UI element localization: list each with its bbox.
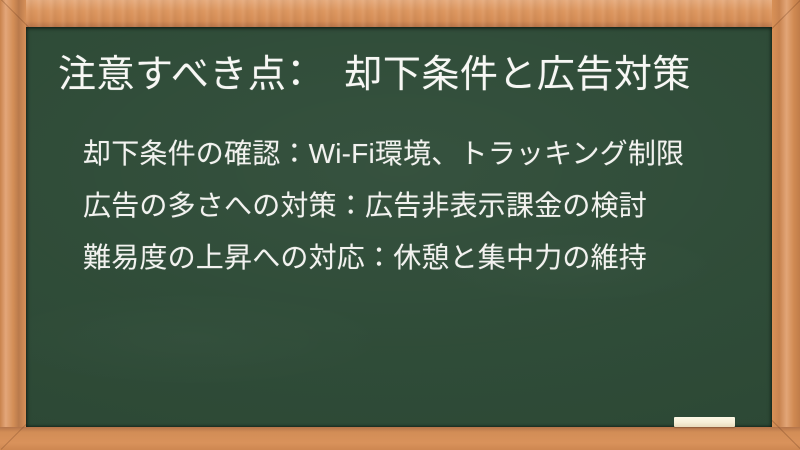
chalkboard-slide: 注意すべき点： 却下条件と広告対策 却下条件の確認：Wi-Fi環境、トラッキング… xyxy=(0,0,800,450)
chalkboard-surface: 注意すべき点： 却下条件と広告対策 却下条件の確認：Wi-Fi環境、トラッキング… xyxy=(26,27,772,427)
list-item: 難易度の上昇への対応：休憩と集中力の維持 xyxy=(83,232,684,284)
bullet-list: 却下条件の確認：Wi-Fi環境、トラッキング制限 広告の多さへの対策：広告非表示… xyxy=(83,128,684,284)
chalk-stick-icon xyxy=(674,417,735,427)
chalkboard-content: 注意すべき点： 却下条件と広告対策 却下条件の確認：Wi-Fi環境、トラッキング… xyxy=(26,27,772,427)
frame-rail-top xyxy=(0,0,800,27)
frame-rail-left xyxy=(0,0,26,450)
page-title: 注意すべき点： 却下条件と広告対策 xyxy=(58,54,691,98)
list-item: 却下条件の確認：Wi-Fi環境、トラッキング制限 xyxy=(83,128,684,180)
frame-rail-right xyxy=(772,0,800,450)
list-item: 広告の多さへの対策：広告非表示課金の検討 xyxy=(83,180,684,232)
frame-rail-bottom xyxy=(0,427,800,450)
